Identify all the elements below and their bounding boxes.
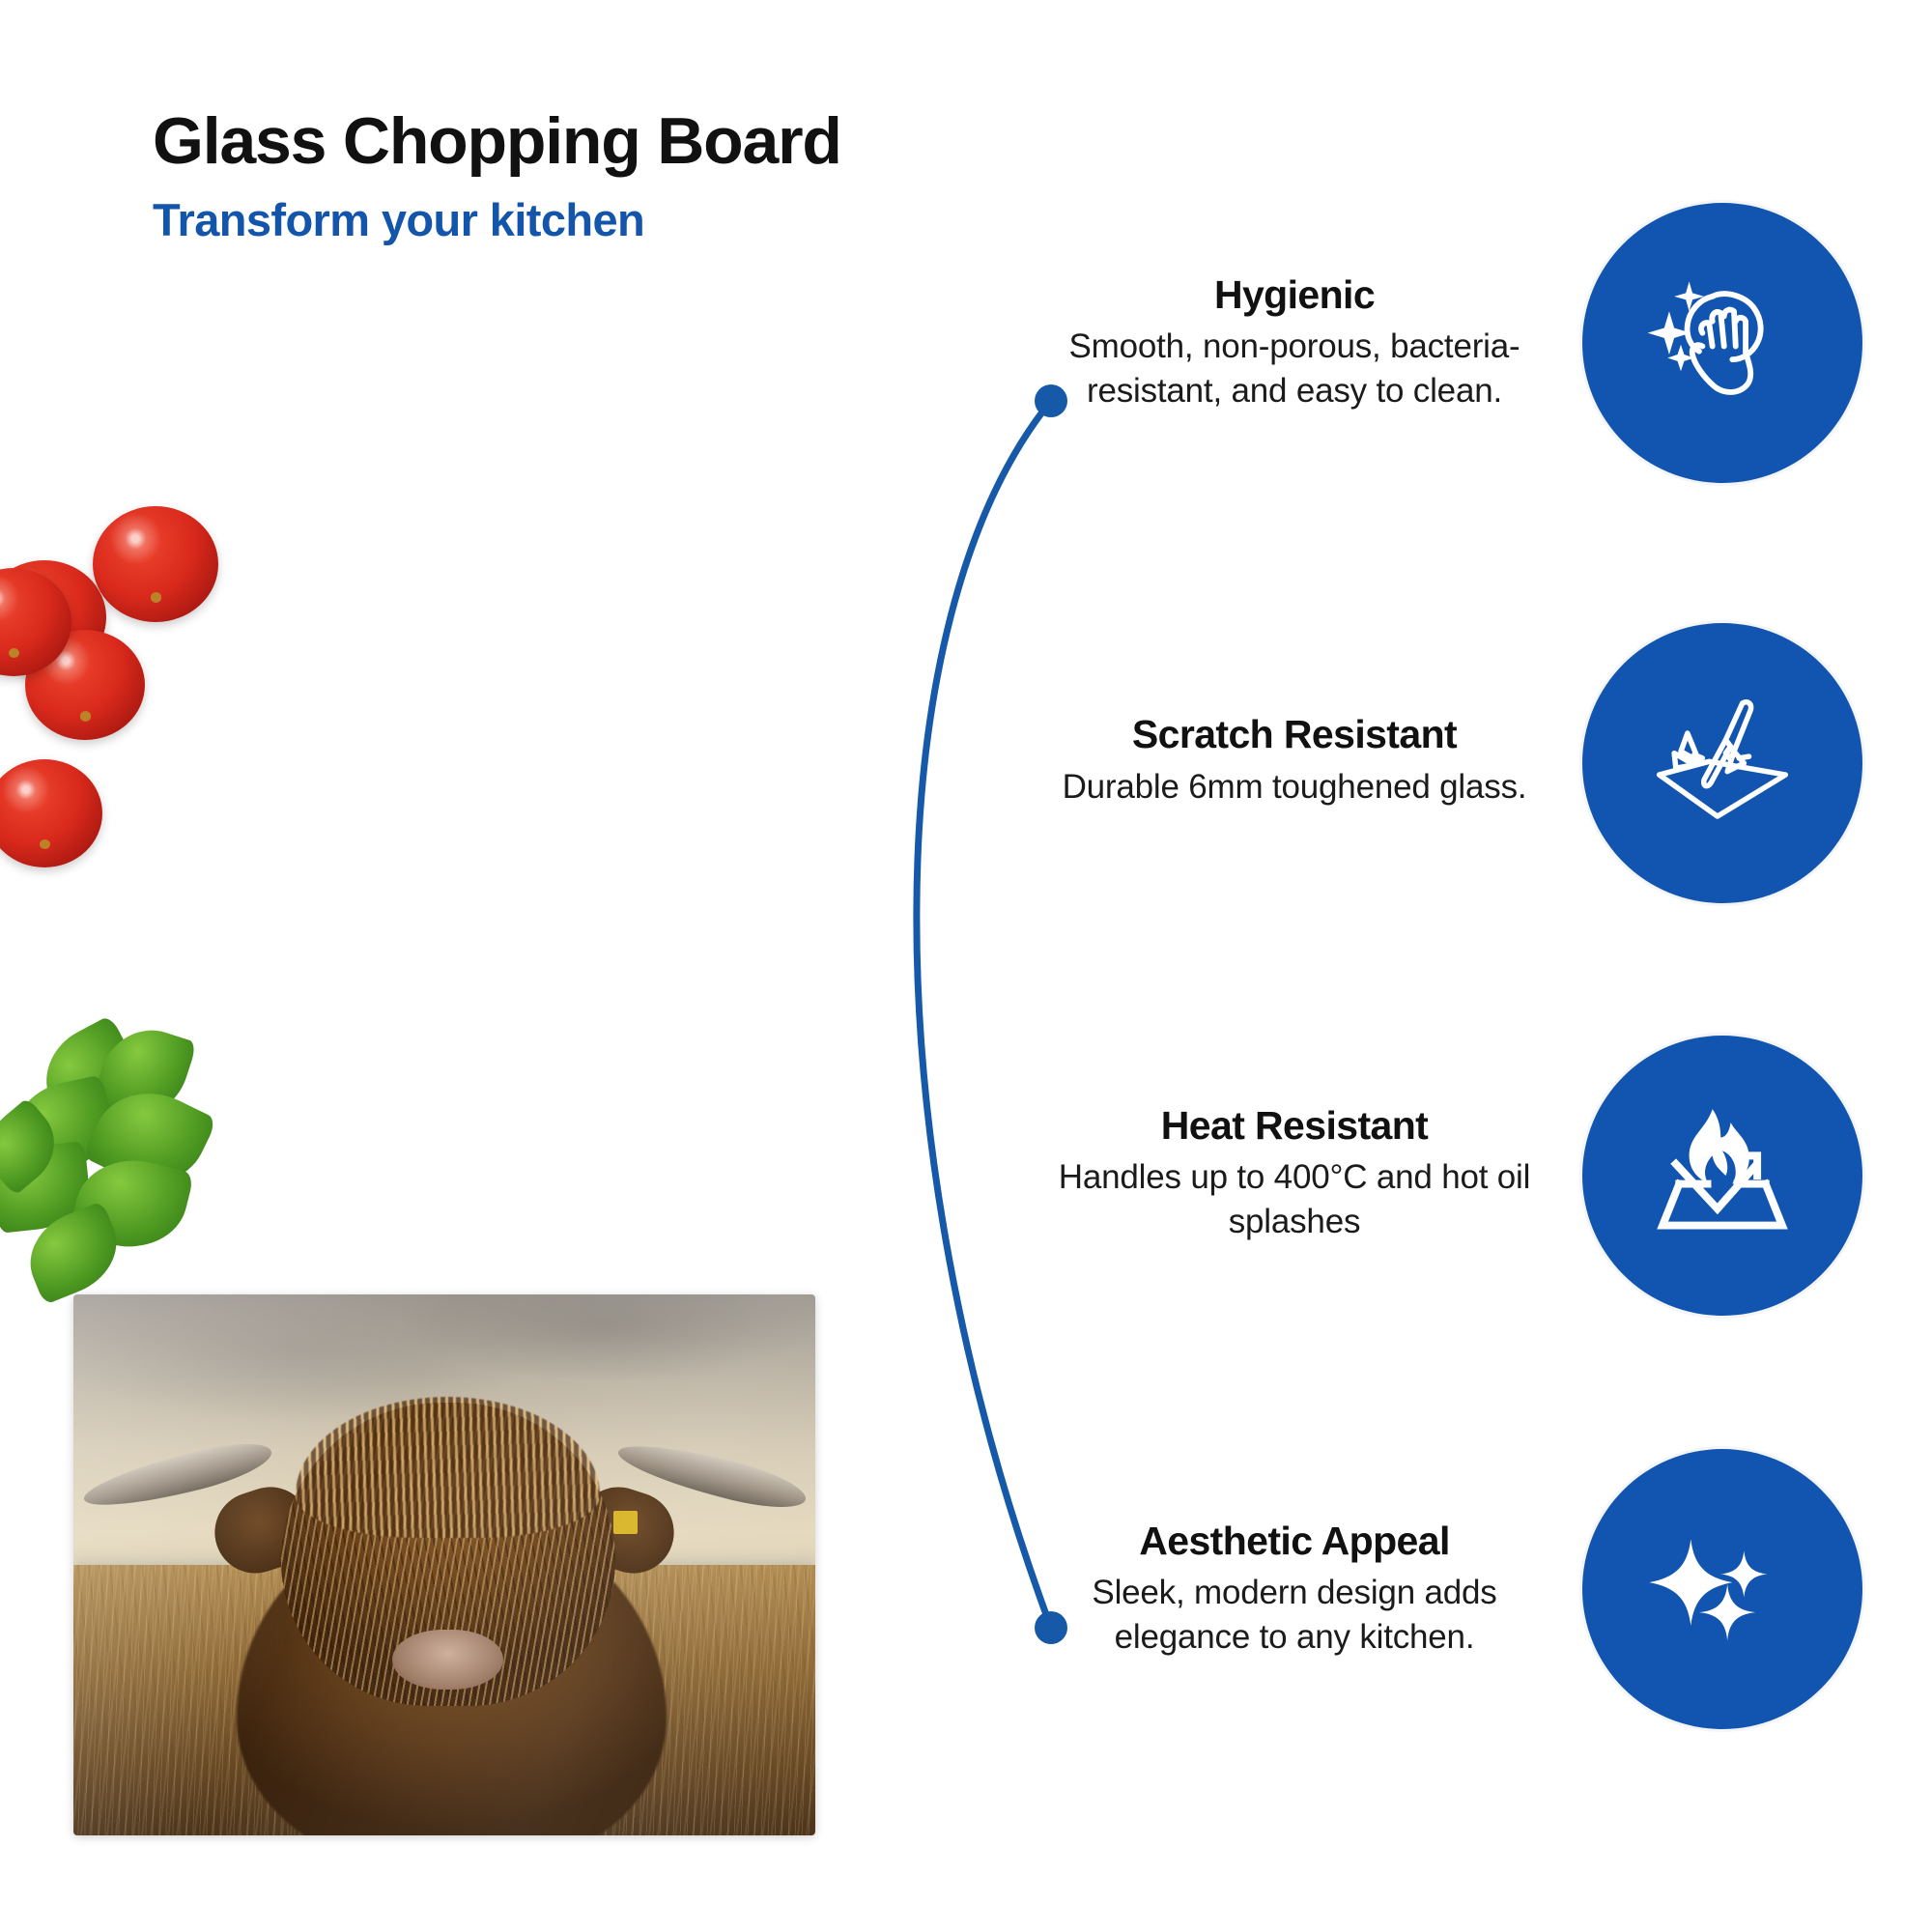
feature-title: Aesthetic Appeal [1024, 1520, 1565, 1564]
feature-icon-badge-heat [1582, 1036, 1862, 1316]
cow-muzzle [392, 1630, 503, 1690]
feature-description: Durable 6mm toughened glass. [1024, 765, 1565, 810]
tomato [0, 759, 102, 867]
feature-title: Scratch Resistant [1024, 713, 1565, 757]
cow-ear-tag [613, 1511, 638, 1534]
chopping-board-product-image [73, 1294, 815, 1835]
feature-row-scratch-resistant[interactable]: Scratch Resistant Durable 6mm toughened … [1024, 623, 1932, 903]
feature-list: Hygienic Smooth, non-porous, bacteria-re… [1024, 0, 1932, 1932]
feature-text-block: Scratch Resistant Durable 6mm toughened … [1024, 713, 1582, 812]
feature-row-heat-resistant[interactable]: Heat Resistant Handles up to 400°C and h… [1024, 1036, 1932, 1316]
feature-text-block: Aesthetic Appeal Sleek, modern design ad… [1024, 1520, 1582, 1660]
sparkles-icon [1639, 1506, 1805, 1672]
parsley-garnish [0, 1024, 230, 1294]
feature-icon-badge-hygienic [1582, 203, 1862, 483]
feature-title: Hygienic [1024, 273, 1565, 318]
page-subtitle: Transform your kitchen [153, 197, 841, 242]
knife-impact-surface-icon [1639, 680, 1805, 846]
feature-description: Sleek, modern design adds elegance to an… [1024, 1571, 1565, 1659]
page-title: Glass Chopping Board [153, 108, 841, 174]
highland-cow-artwork [73, 1294, 815, 1835]
feature-icon-badge-scratch [1582, 623, 1862, 903]
flame-deflect-surface-icon [1639, 1093, 1805, 1259]
hand-wipe-sparkle-icon [1639, 260, 1805, 426]
feature-icon-badge-aesthetic [1582, 1449, 1862, 1729]
infographic-canvas: Glass Chopping Board Transform your kitc… [0, 0, 1932, 1932]
feature-row-hygienic[interactable]: Hygienic Smooth, non-porous, bacteria-re… [1024, 203, 1932, 483]
feature-text-block: Heat Resistant Handles up to 400°C and h… [1024, 1104, 1582, 1248]
header: Glass Chopping Board Transform your kitc… [153, 108, 841, 242]
feature-description: Handles up to 400°C and hot oil splashes [1024, 1155, 1565, 1243]
feature-row-aesthetic-appeal[interactable]: Aesthetic Appeal Sleek, modern design ad… [1024, 1449, 1932, 1729]
feature-title: Heat Resistant [1024, 1104, 1565, 1149]
feature-description: Smooth, non-porous, bacteria-resistant, … [1024, 325, 1565, 412]
product-composition [0, 618, 869, 1333]
tomato [93, 506, 218, 622]
feature-text-block: Hygienic Smooth, non-porous, bacteria-re… [1024, 273, 1582, 413]
